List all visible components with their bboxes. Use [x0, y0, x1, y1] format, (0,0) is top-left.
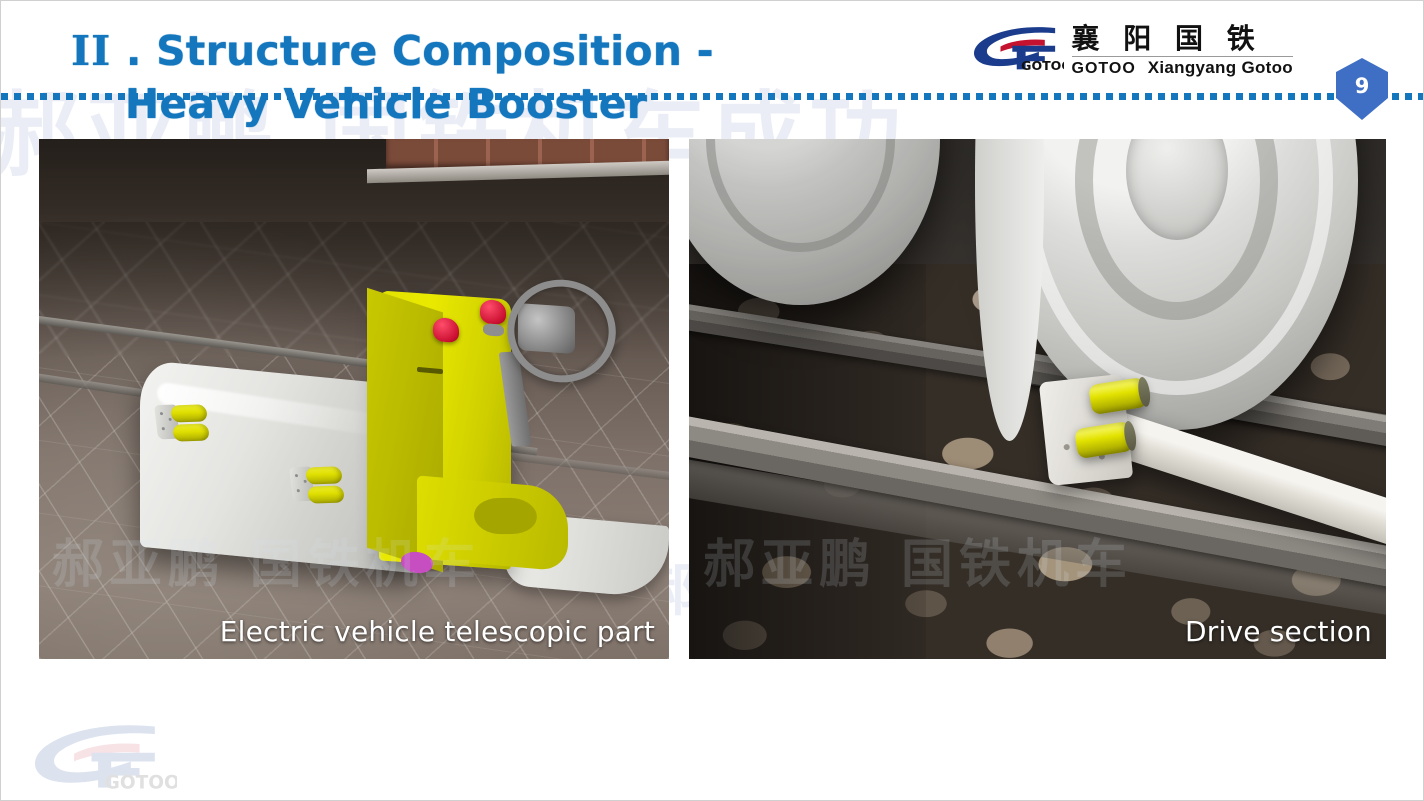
- yellow-roller-lower: [172, 423, 210, 441]
- company-logo: GOTOO 襄 阳 国 铁 GOTOO Xiangyang Gotoo: [968, 23, 1294, 78]
- title-line-1: II . Structure Composition -: [67, 25, 767, 78]
- section-numeral: II: [71, 27, 111, 75]
- gf-swoosh-icon-footer: GOTOO: [17, 720, 177, 792]
- gf-swoosh-icon: GOTOO: [968, 23, 1064, 73]
- yellow-roller-lower: [307, 485, 345, 503]
- figure-caption-left: Electric vehicle telescopic part: [220, 615, 655, 649]
- slide-title: II . Structure Composition - Heavy Vehic…: [67, 25, 767, 131]
- wheel-rim-ring: [706, 139, 896, 252]
- logo-english-row: GOTOO Xiangyang Gotoo: [1072, 58, 1294, 78]
- svg-text:GOTOO: GOTOO: [105, 773, 177, 792]
- yellow-roller-upper: [170, 404, 208, 422]
- figure-caption-right: Drive section: [1185, 615, 1372, 649]
- logo-english-name: Xiangyang Gotoo: [1148, 58, 1293, 78]
- figure-drive-section: 郝亚鹏 国铁机车 Drive section: [689, 139, 1386, 659]
- logo-gotoo-text: GOTOO: [1072, 60, 1136, 78]
- presentation-slide: 郝亚鹏 国铁机车成功 II . Structure Composition - …: [0, 0, 1424, 801]
- figure-watermark-left: 郝亚鹏 国铁机车: [52, 522, 482, 597]
- yellow-roller-upper: [305, 466, 343, 484]
- page-number: 9: [1333, 57, 1391, 121]
- footer-logo-watermark: GOTOO: [17, 720, 177, 792]
- svg-text:GOTOO: GOTOO: [1021, 58, 1064, 73]
- page-number-badge: 9: [1333, 57, 1391, 121]
- title-line-1-text: . Structure Composition -: [111, 27, 714, 75]
- logo-underline: [1072, 56, 1294, 57]
- logo-chinese-name: 襄 阳 国 铁: [1072, 24, 1262, 54]
- title-line-2: Heavy Vehicle Booster: [67, 78, 767, 131]
- logo-text-block: 襄 阳 国 铁 GOTOO Xiangyang Gotoo: [1072, 23, 1294, 78]
- figure-electric-vehicle-telescopic-part: 郝亚鹏 国铁机车 Electric vehicle telescopic par…: [39, 139, 669, 659]
- figure-watermark-right: 郝亚鹏 国铁机车: [703, 522, 1133, 597]
